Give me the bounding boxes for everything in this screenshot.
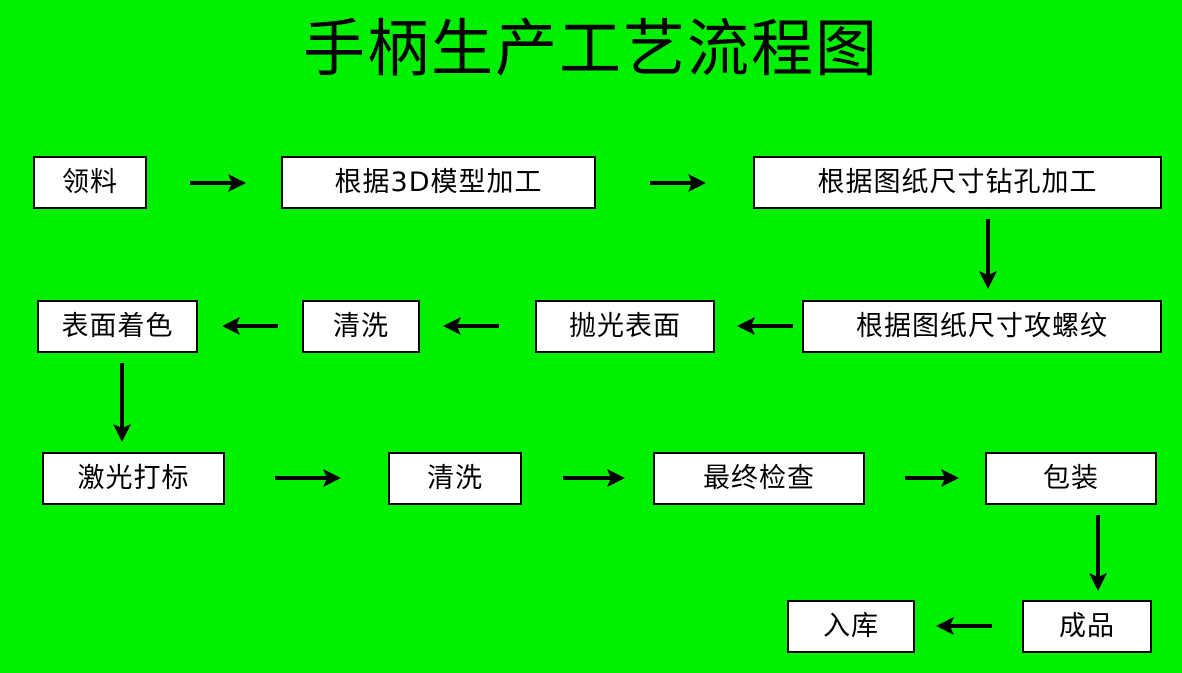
process-node-label: 激光打标 [78,465,190,492]
arrow-right-n2-to-n3 [650,172,706,194]
process-node-label: 抛光表面 [569,313,681,340]
arrow-left-n5-to-n6 [443,315,499,337]
arrow-down-n11-to-n12 [1087,515,1109,591]
process-node-n6[interactable]: 清洗 [302,300,420,353]
process-node-n8[interactable]: 激光打标 [42,452,225,505]
arrow-down-n7-to-n8 [111,363,133,442]
process-node-label: 成品 [1059,613,1115,640]
process-node-label: 领料 [62,169,118,196]
arrow-left-n4-to-n5 [737,315,793,337]
process-node-n4[interactable]: 根据图纸尺寸攻螺纹 [802,300,1162,353]
process-node-label: 清洗 [427,465,483,492]
process-node-label: 最终检查 [703,465,815,492]
arrow-right-n9-to-n10 [563,467,625,489]
page-title: 手柄生产工艺流程图 [0,4,1182,94]
arrow-left-n6-to-n7 [222,315,278,337]
process-node-n11[interactable]: 包装 [985,452,1157,505]
arrow-left-n12-to-n13 [936,615,992,637]
process-node-n1[interactable]: 领料 [33,156,147,209]
process-node-label: 入库 [823,613,879,640]
process-node-n12[interactable]: 成品 [1022,600,1152,653]
process-node-label: 根据3D模型加工 [335,169,543,196]
process-node-n2[interactable]: 根据3D模型加工 [281,156,596,209]
process-node-n9[interactable]: 清洗 [388,452,522,505]
process-node-n13[interactable]: 入库 [787,600,915,653]
process-node-n7[interactable]: 表面着色 [37,300,198,353]
process-node-label: 表面着色 [62,313,174,340]
process-node-n5[interactable]: 抛光表面 [535,300,715,353]
flowchart-canvas: 手柄生产工艺流程图 领料根据3D模型加工根据图纸尺寸钻孔加工根据图纸尺寸攻螺纹抛… [0,0,1182,673]
process-node-label: 包装 [1043,465,1099,492]
arrow-right-n8-to-n9 [275,467,341,489]
arrow-right-n1-to-n2 [190,172,246,194]
process-node-n3[interactable]: 根据图纸尺寸钻孔加工 [753,156,1162,209]
process-node-label: 根据图纸尺寸钻孔加工 [818,169,1098,196]
process-node-n10[interactable]: 最终检查 [653,452,865,505]
process-node-label: 根据图纸尺寸攻螺纹 [856,313,1108,340]
arrow-right-n10-to-n11 [905,467,959,489]
process-node-label: 清洗 [333,313,389,340]
arrow-down-n3-to-n4 [977,219,999,289]
